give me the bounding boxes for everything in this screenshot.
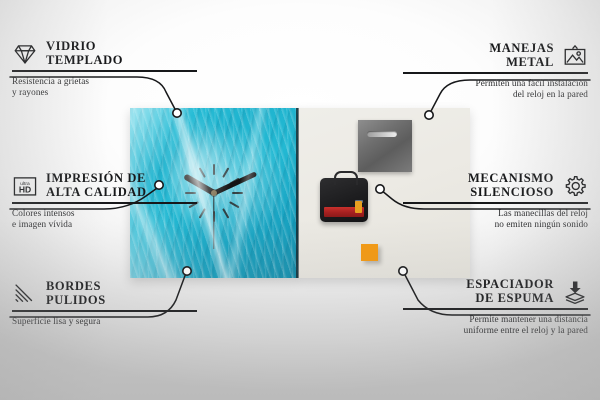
callout-subtitle-line: Permiten una fácil instalación [403, 78, 588, 89]
callout-rule [403, 72, 588, 74]
clock-tick [199, 167, 230, 218]
callout-mecanismo-silencioso[interactable]: MECANISMO SILENCIOSO Las manecillas del … [403, 172, 588, 230]
callout-subtitle-line: no emiten ningún sonido [403, 219, 588, 230]
callout-subtitle-line: uniforme entre el reloj y la pared [403, 325, 588, 336]
callout-subtitle-line: Permite mantener una distancia [403, 314, 588, 325]
diamond-icon [12, 41, 38, 67]
callout-espaciador-espuma[interactable]: ESPACIADOR DE ESPUMA Permite mantener un… [403, 278, 588, 336]
callout-subtitle-line: Superficie lisa y segura [12, 316, 197, 327]
callout-title: MECANISMO SILENCIOSO [468, 172, 554, 199]
callout-header: MECANISMO SILENCIOSO [403, 172, 588, 199]
battery-terminal [355, 201, 362, 213]
hanger-slot [367, 131, 397, 137]
clock-second-hand [213, 193, 214, 249]
callout-title: ESPACIADOR DE ESPUMA [466, 278, 554, 305]
callout-subtitle-line: Colores intensos [12, 208, 197, 219]
callout-subtitle-line: Resistencia a grietas [12, 76, 197, 87]
callout-subtitle-line: Las manecillas del reloj [403, 208, 588, 219]
polished-edges-icon [12, 281, 38, 307]
clock-tick [199, 167, 230, 218]
svg-text:HD: HD [19, 184, 31, 194]
callout-title: VIDRIO TEMPLADO [46, 40, 123, 67]
clock-tick [213, 164, 215, 222]
callout-rule [12, 70, 197, 72]
callout-subtitle-line: y rayones [12, 87, 197, 98]
ultra-hd-icon: ultra HD [12, 173, 38, 199]
clock-mechanism [320, 178, 368, 222]
callout-title: MANEJAS METAL [489, 42, 554, 69]
callout-title: IMPRESIÓN DE ALTA CALIDAD [46, 172, 147, 199]
infographic-canvas: VIDRIO TEMPLADO Resistencia a grietas y … [0, 0, 600, 400]
callout-rule [12, 202, 197, 204]
gear-icon [562, 173, 588, 199]
callout-header: MANEJAS METAL [403, 42, 588, 69]
clock-tick [199, 167, 230, 218]
callout-subtitle-line: e imagen vívida [12, 219, 197, 230]
callout-bordes-pulidos[interactable]: BORDES PULIDOS Superficie lisa y segura [12, 280, 197, 327]
foam-spacer-icon [562, 279, 588, 305]
callout-impresion-alta-calidad[interactable]: ultra HD IMPRESIÓN DE ALTA CALIDAD Color… [12, 172, 197, 230]
picture-hanger-icon [562, 43, 588, 69]
callout-vidrio-templado[interactable]: VIDRIO TEMPLADO Resistencia a grietas y … [12, 40, 197, 98]
clock-minute-hand [213, 171, 257, 195]
callout-manejas-metal[interactable]: MANEJAS METAL Permiten una fácil instala… [403, 42, 588, 100]
battery-compartment [324, 207, 364, 217]
clock-center-cap [211, 190, 217, 196]
callout-header: ultra HD IMPRESIÓN DE ALTA CALIDAD [12, 172, 197, 199]
metal-hanger [358, 120, 412, 172]
callout-subtitle-line: del reloj en la pared [403, 89, 588, 100]
callout-header: VIDRIO TEMPLADO [12, 40, 197, 67]
mechanism-loop-icon [334, 171, 358, 185]
callout-header: ESPACIADOR DE ESPUMA [403, 278, 588, 305]
callout-rule [12, 310, 197, 312]
callout-title: BORDES PULIDOS [46, 280, 106, 307]
clock-tick [199, 167, 230, 218]
callout-rule [403, 308, 588, 310]
callout-rule [403, 202, 588, 204]
clock-tick [213, 164, 215, 222]
foam-spacer [361, 244, 378, 261]
callout-header: BORDES PULIDOS [12, 280, 197, 307]
